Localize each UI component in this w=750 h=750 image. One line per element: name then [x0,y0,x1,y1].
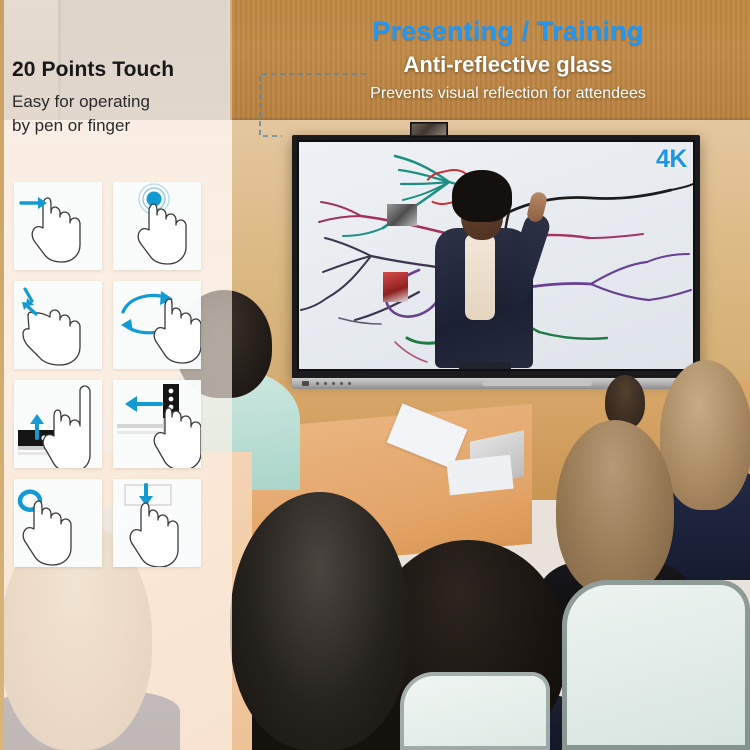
gesture-pinch-in [14,281,102,369]
left-panel-subtitle-line1: Easy for operating [12,90,227,114]
attendee-head-4 [556,420,674,596]
webcam-icon [410,122,448,137]
gesture-swipe-left-edge [113,380,201,468]
promo-image-stage: 4K 20 Points Touch Easy for ope [0,0,750,750]
gesture-rotate [113,281,201,369]
banner-kicker: Presenting / Training [270,16,746,47]
gesture-tap [113,182,201,270]
top-banner-text-block: Presenting / Training Anti-reflective gl… [270,16,746,103]
gesture-swipe-up-taskbar [14,380,102,468]
gesture-swipe-right [14,182,102,270]
speaker-grille [482,381,592,386]
gesture-press-hold [14,479,102,567]
interactive-flat-panel-display[interactable]: 4K [292,135,700,380]
left-accent-edge [0,0,4,750]
gesture-swipe-down-menu [113,479,201,567]
auditorium-chair-center [400,672,550,750]
mindmap-photo-thumb-1 [387,204,417,226]
resolution-badge-4k: 4K [656,145,687,174]
attendee-head-5 [660,360,750,510]
attendee-head-1 [230,492,410,750]
pinch-in-icon [22,289,36,314]
presenter-figure [425,170,545,369]
display-screen[interactable]: 4K [299,142,693,369]
brand-logo [302,381,309,386]
auditorium-chair-right [562,580,750,750]
gesture-icon-grid [14,182,214,567]
control-buttons[interactable] [316,382,351,385]
mindmap-photo-thumb-2 [383,272,408,302]
banner-title: Anti-reflective glass [270,52,746,78]
arrow-left-icon [125,396,161,412]
banner-subtitle: Prevents visual reflection for attendees [270,85,746,103]
left-panel-title: 20 Points Touch [12,58,227,81]
left-panel-subtitle-line2: by pen or finger [12,114,227,138]
left-text-block: 20 Points Touch Easy for operating by pe… [12,58,227,138]
paper-sheet-right [446,455,513,496]
